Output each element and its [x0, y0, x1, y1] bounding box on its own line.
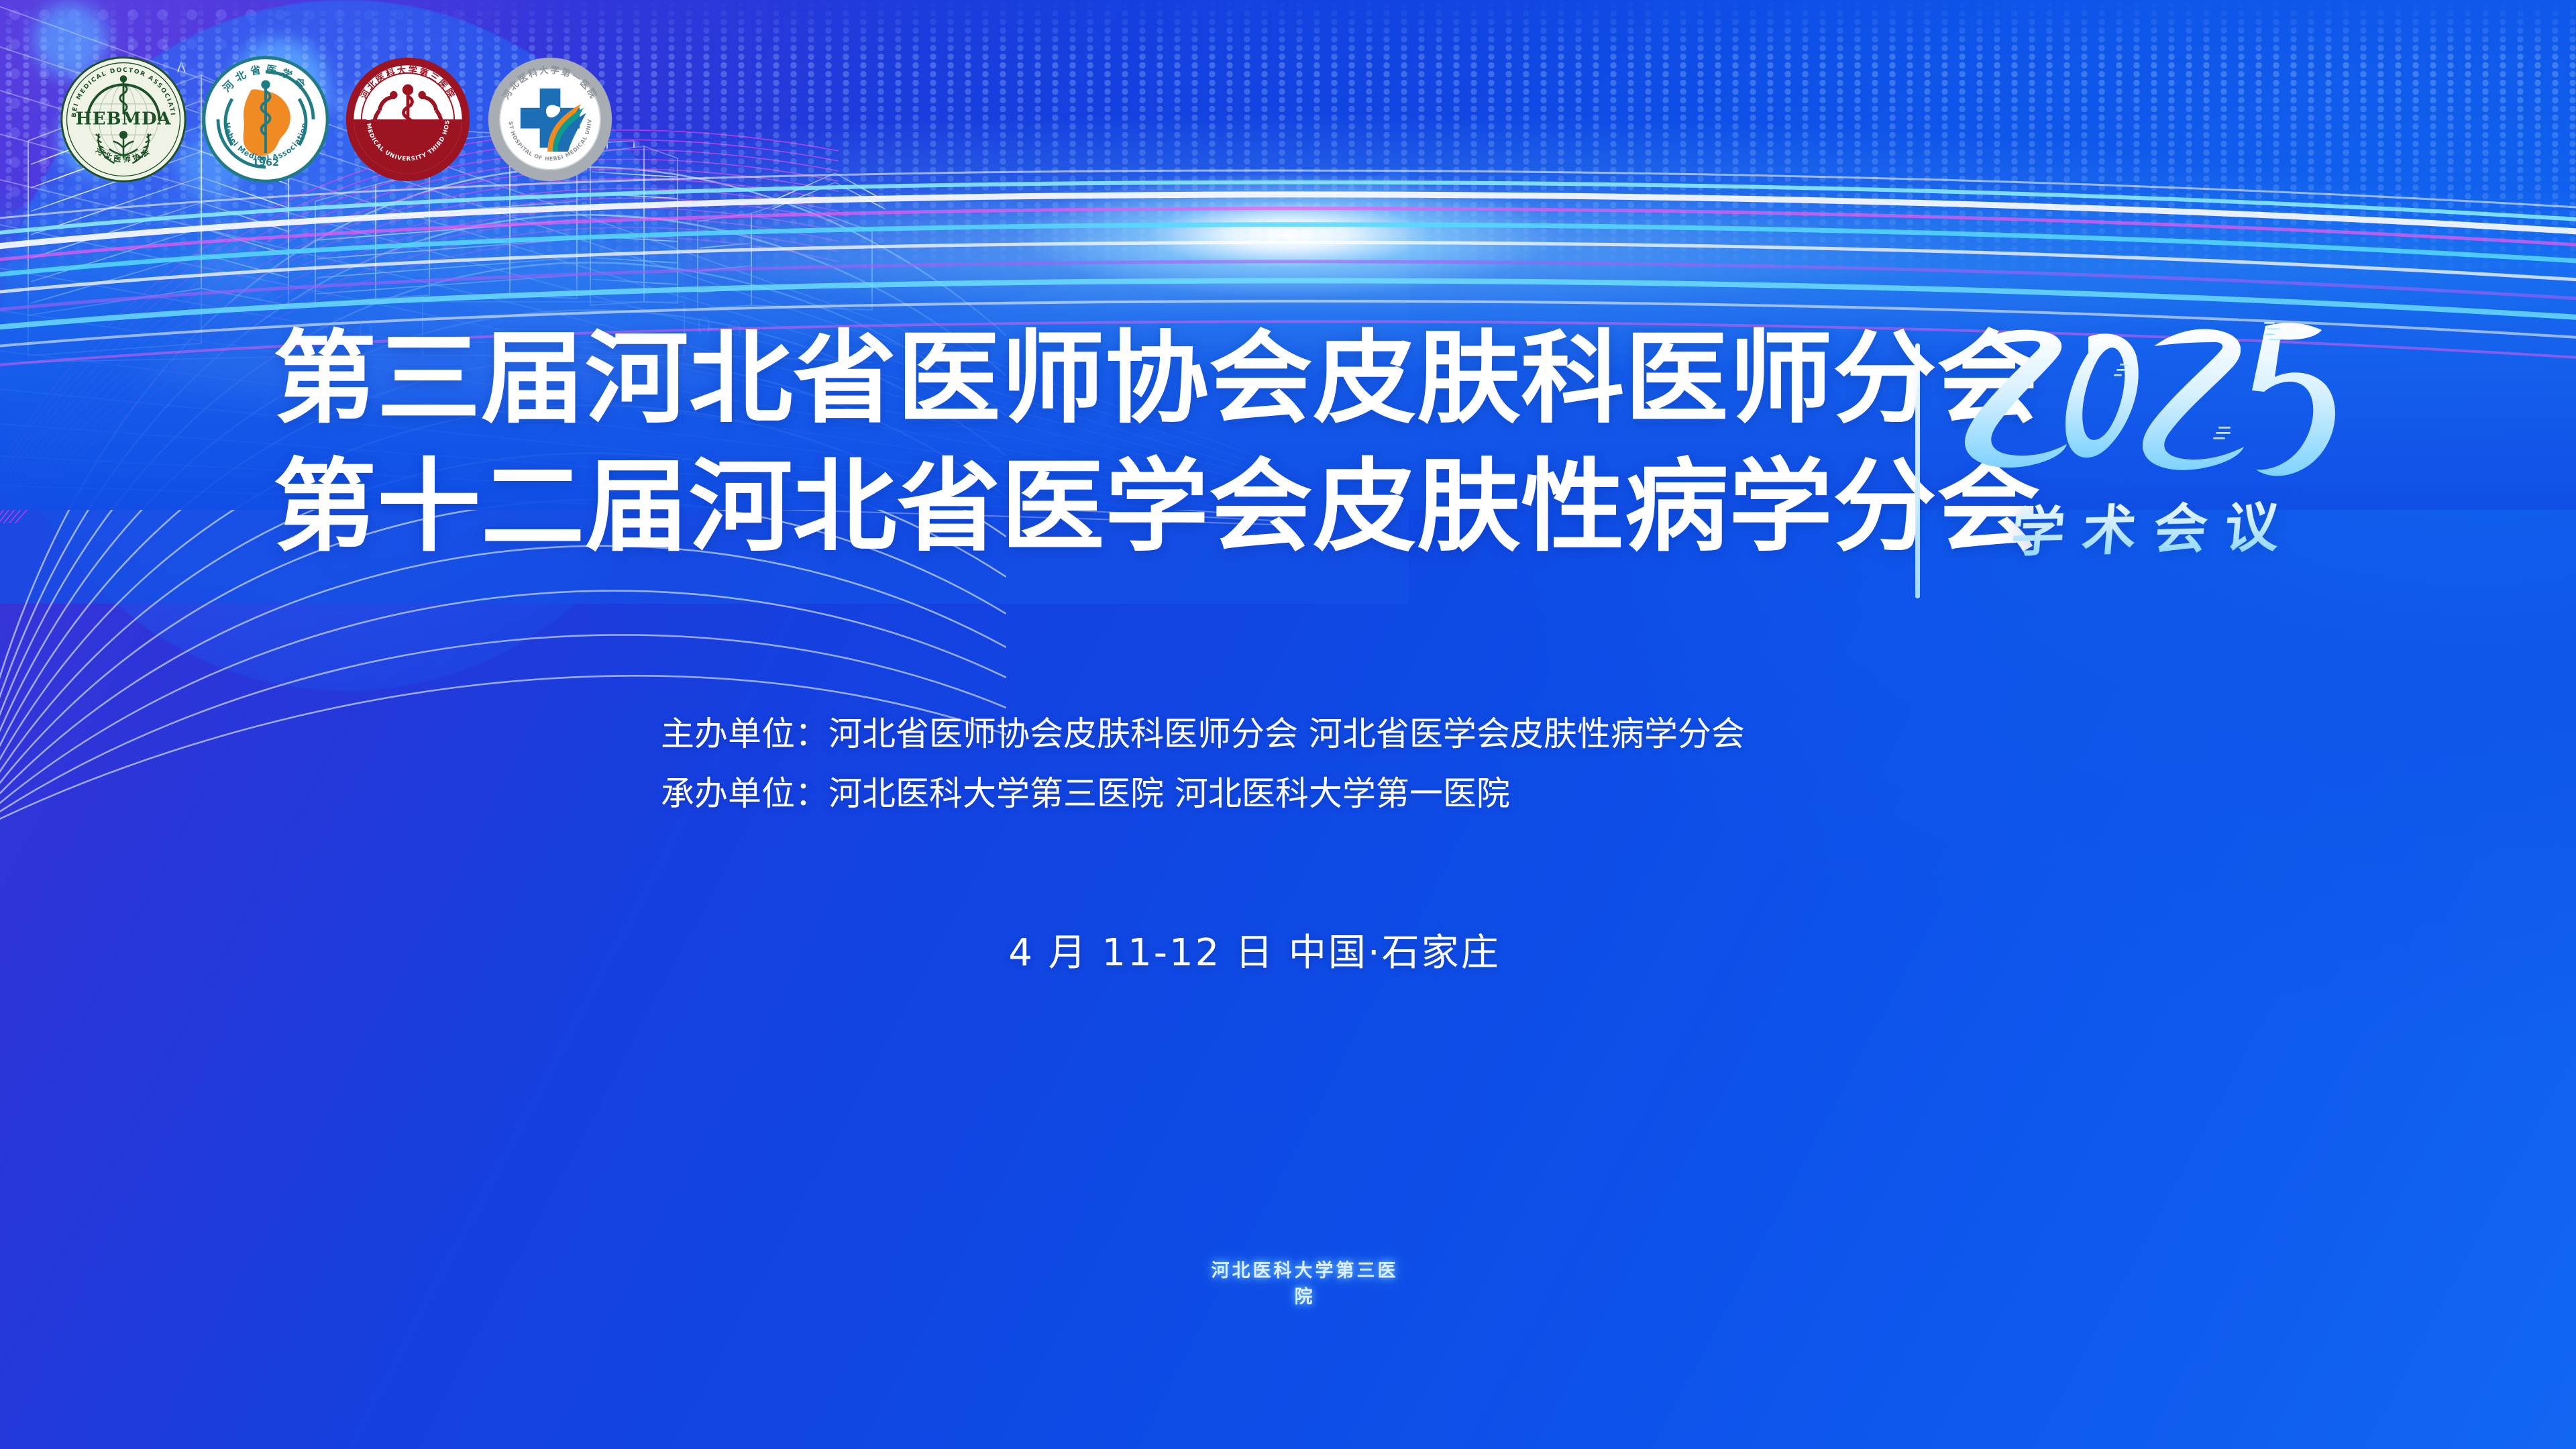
logo-hebei-medical-doctor-association: HEBMDA HEBEI MEDICAL DOCTOR ASSOCIATION … — [59, 55, 188, 184]
hospital-sign-text: 河北医科大学第三医院 — [1207, 1256, 1402, 1308]
logo-first-hospital-of-hebei-medical-university: 河北医科大学第一医院 THE FIRST HOSPITAL OF HEBEI M… — [486, 55, 614, 184]
host-line: 主办单位：河北省医师协会皮肤科医师分会 河北省医学会皮肤性病学分会 — [661, 704, 1745, 764]
organizers-block: 主办单位：河北省医师协会皮肤科医师分会 河北省医学会皮肤性病学分会 承办单位：河… — [661, 704, 1745, 824]
title-divider — [1915, 343, 1920, 598]
year-subtitle: 学术会议 — [1970, 482, 2339, 568]
logo-hebei-medical-university-third-hospital: -1958- 河北医科大学第三医院 HEBEI MEDICAL UNIVERSI… — [343, 55, 472, 184]
co-host-line: 承办单位：河北医科大学第三医院 河北医科大学第一医院 — [661, 764, 1745, 824]
logo-abbr: HEBMDA — [75, 109, 171, 129]
year-2025-calligraphy — [1949, 302, 2351, 503]
logo-hebei-medical-association: 1962 河北省医学会 Hebei Medical Association — [201, 55, 330, 184]
year-mark-block: 学术会议 — [1949, 315, 2365, 597]
conference-banner: HEBMDA HEBEI MEDICAL DOCTOR ASSOCIATION … — [0, 0, 2576, 1449]
logo-year: -1958- — [395, 147, 421, 155]
organizer-logo-row: HEBMDA HEBEI MEDICAL DOCTOR ASSOCIATION … — [59, 55, 614, 184]
date-location-text: 4 月 11-12 日 中国·石家庄 — [1008, 922, 1500, 977]
date-location: 4 月 11-12 日 中国·石家庄 — [0, 922, 2576, 977]
